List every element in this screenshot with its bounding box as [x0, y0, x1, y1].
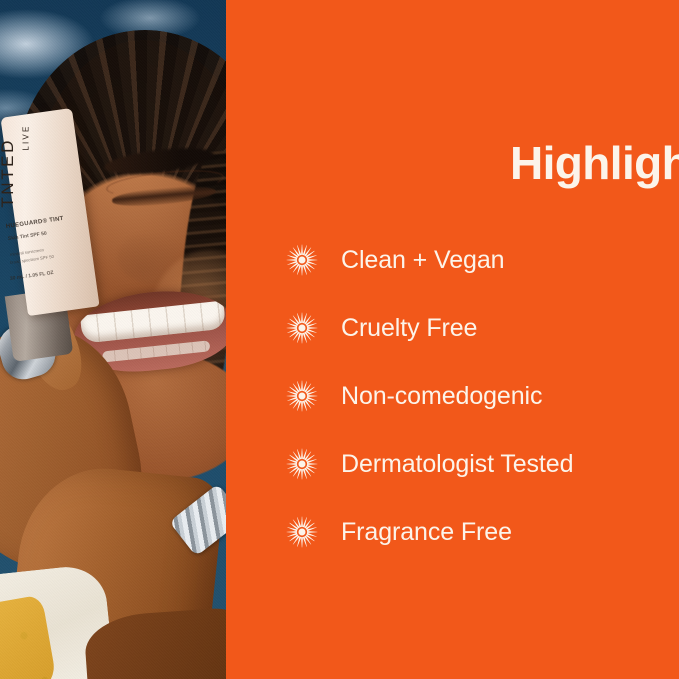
highlights-panel: Highlights Clean + Vegan Cruelty Free No…	[226, 0, 679, 679]
product-brand-text: TNTED	[0, 138, 18, 208]
product-lifestyle-photo: TNTED LIVE HUEGUARD® TINT Skin Tint SPF …	[0, 0, 226, 679]
sunburst-icon	[286, 448, 318, 480]
list-item: Cruelty Free	[286, 294, 679, 362]
sunburst-icon	[286, 380, 318, 412]
list-item: Fragrance Free	[286, 498, 679, 566]
sunburst-icon	[286, 312, 318, 344]
list-item-label: Non-comedogenic	[341, 384, 542, 409]
list-item: Clean + Vegan	[286, 226, 679, 294]
list-item: Non-comedogenic	[286, 362, 679, 430]
page-title: Highlights	[226, 140, 679, 186]
list-item-label: Cruelty Free	[341, 316, 477, 341]
sunburst-icon	[286, 244, 318, 276]
product-brand-prefix: LIVE	[22, 125, 31, 151]
list-item-label: Fragrance Free	[341, 520, 512, 545]
sunburst-icon	[286, 516, 318, 548]
highlights-list: Clean + Vegan Cruelty Free Non-comedogen…	[286, 226, 679, 566]
product-highlights-card: TNTED LIVE HUEGUARD® TINT Skin Tint SPF …	[0, 0, 679, 679]
lower-teeth	[102, 340, 211, 362]
upper-teeth	[80, 301, 226, 344]
list-item-label: Clean + Vegan	[341, 248, 504, 273]
list-item-label: Dermatologist Tested	[341, 452, 573, 477]
list-item: Dermatologist Tested	[286, 430, 679, 498]
